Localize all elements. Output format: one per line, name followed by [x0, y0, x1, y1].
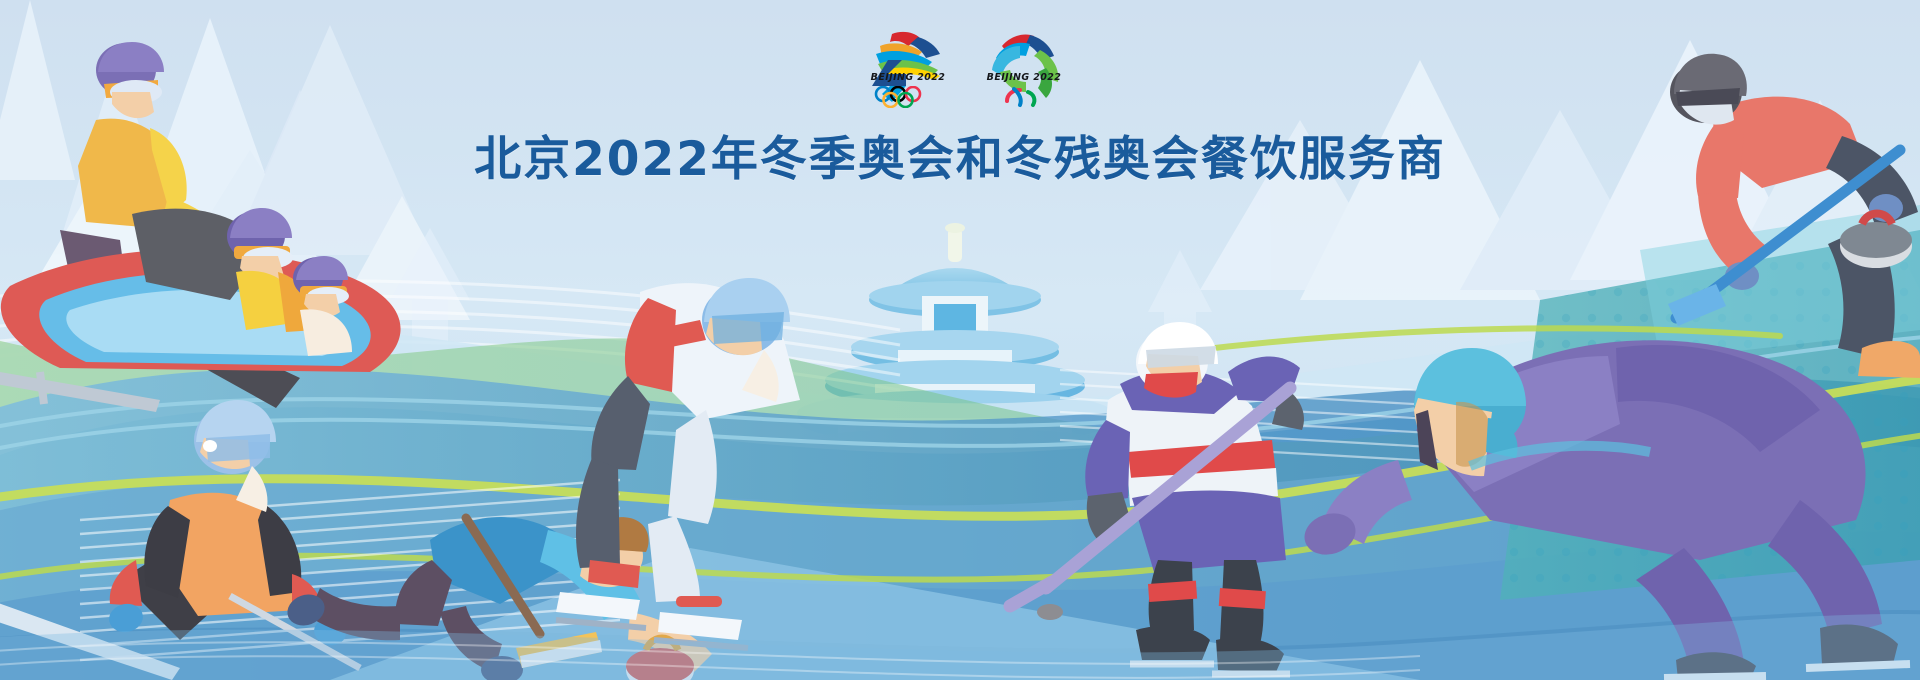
beijing-2022-paralympic-emblem: BEIJING 2022	[976, 24, 1072, 116]
olympic-rings-icon	[860, 86, 956, 108]
beijing-2022-catering-sponsor-banner: BEIJING 2022	[0, 0, 1920, 680]
olympic-emblem-wordmark: BEIJING 2022	[860, 72, 956, 83]
emblem-group: BEIJING 2022	[860, 24, 1072, 116]
agitos-icon	[976, 86, 1072, 108]
paralympic-emblem-wordmark: BEIJING 2022	[976, 72, 1072, 83]
page-title: 北京2022年冬季奥会和冬残奥会餐饮服务商	[0, 120, 1920, 189]
beijing-2022-olympic-emblem: BEIJING 2022	[860, 24, 956, 116]
